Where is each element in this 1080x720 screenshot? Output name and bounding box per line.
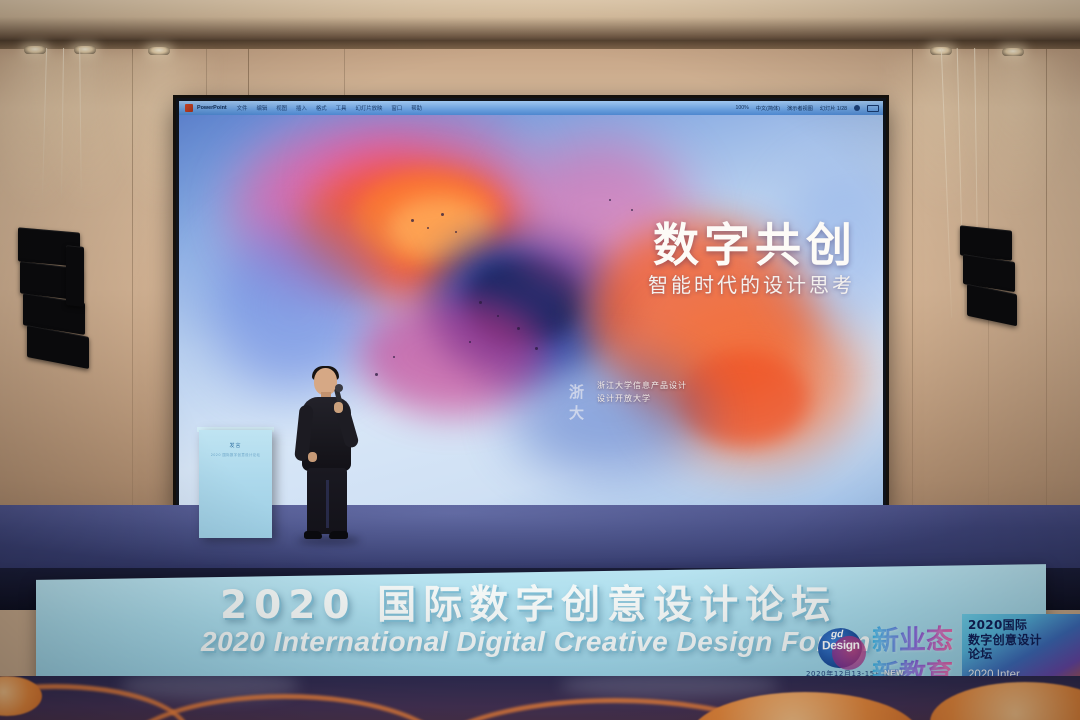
powder-grain xyxy=(609,199,611,201)
powder-grain xyxy=(427,227,429,229)
conference-stage-photo: 数字共创 智能时代的设计思考 浙大 浙江大学信息产品设计 设计开放大学 Powe… xyxy=(0,0,1080,720)
carpet-highlight xyxy=(560,676,780,698)
menu-item-view[interactable]: 视图 xyxy=(276,104,287,112)
carpet-medallion xyxy=(930,682,1080,720)
presenter-view-label[interactable]: 演示者视图 xyxy=(787,105,813,112)
credit-line-1: 浙江大学信息产品设计 xyxy=(597,379,687,392)
powerpoint-menu-bar[interactable]: PowerPoint 文件 编辑 视图 插入 格式 工具 幻灯片放映 窗口 帮助… xyxy=(179,101,883,115)
standee-title-chinese: 2020国际 数字创意设计 论坛 xyxy=(968,618,1042,662)
speaker-other-hand xyxy=(308,452,317,462)
zoom-level-label[interactable]: 100% xyxy=(735,105,748,111)
powder-grain xyxy=(479,301,482,304)
microphone-head-icon xyxy=(335,384,343,392)
menu-item-format[interactable]: 格式 xyxy=(316,104,327,112)
menu-item-slideshow[interactable]: 幻灯片放映 xyxy=(355,104,382,112)
powder-grain xyxy=(411,219,414,222)
powder-grain xyxy=(497,315,499,317)
settings-gear-icon[interactable] xyxy=(854,105,860,111)
powder-grain xyxy=(469,341,471,343)
podium: 发言 2020 国际数字创意设计论坛 xyxy=(199,430,272,538)
speaker-hand-holding-mic xyxy=(334,402,343,413)
powder-burst xyxy=(509,356,709,476)
slide-title: 数字共创 xyxy=(653,209,857,275)
powder-grain xyxy=(631,209,633,211)
powder-grain xyxy=(455,231,457,233)
slide-subtitle: 智能时代的设计思考 xyxy=(648,269,855,298)
ceiling-band xyxy=(0,0,1080,42)
speaker-person xyxy=(296,368,358,544)
menu-item-edit[interactable]: 编辑 xyxy=(256,104,267,112)
menu-item-insert[interactable]: 插入 xyxy=(296,104,307,112)
menu-bar-status-area[interactable]: 100% 中文(简体) 演示者视图 幻灯片 1/28 xyxy=(735,101,879,115)
line-array-speaker-left xyxy=(18,230,96,380)
powder-grain xyxy=(441,213,444,216)
powder-grain xyxy=(535,347,538,350)
led-screen: 数字共创 智能时代的设计思考 浙大 浙江大学信息产品设计 设计开放大学 Powe… xyxy=(176,98,886,513)
slide-credit: 浙江大学信息产品设计 设计开放大学 xyxy=(597,379,687,405)
menu-item-file[interactable]: 文件 xyxy=(237,104,248,112)
battery-icon xyxy=(867,105,879,112)
speaker-leg-gap xyxy=(326,480,329,528)
menu-item-tools[interactable]: 工具 xyxy=(336,104,347,112)
banner-title-english: 2020 International Digital Creative Desi… xyxy=(201,626,871,658)
logo-text-design: Design xyxy=(822,638,860,653)
app-name-label: PowerPoint xyxy=(197,105,227,111)
credit-line-2: 设计开放大学 xyxy=(597,392,687,405)
university-mark: 浙大 xyxy=(569,381,595,403)
powder-grain xyxy=(375,373,378,376)
speaker-left-shoe xyxy=(304,531,322,539)
menu-item-window[interactable]: 窗口 xyxy=(391,104,402,112)
powder-burst xyxy=(209,221,379,391)
powerpoint-logo-icon xyxy=(185,104,193,112)
menu-item-help[interactable]: 帮助 xyxy=(411,104,422,112)
slide-counter-label: 幻灯片 1/28 xyxy=(820,105,847,112)
gd-design-logo: gd Design xyxy=(816,618,872,677)
powder-grain xyxy=(517,327,520,330)
powder-grain xyxy=(393,356,395,358)
podium-sublabel: 2020 国际数字创意设计论坛 xyxy=(199,452,272,457)
foreground-carpet xyxy=(0,676,1080,720)
speaker-right-shoe xyxy=(329,531,348,539)
presentation-slide: 数字共创 智能时代的设计思考 浙大 浙江大学信息产品设计 设计开放大学 Powe… xyxy=(179,101,883,510)
language-label[interactable]: 中文(简体) xyxy=(756,105,780,112)
banner-title-chinese: 2020 国际数字创意设计论坛 xyxy=(220,574,837,630)
podium-label: 发言 xyxy=(199,442,272,449)
line-array-speaker-right xyxy=(960,228,1030,328)
